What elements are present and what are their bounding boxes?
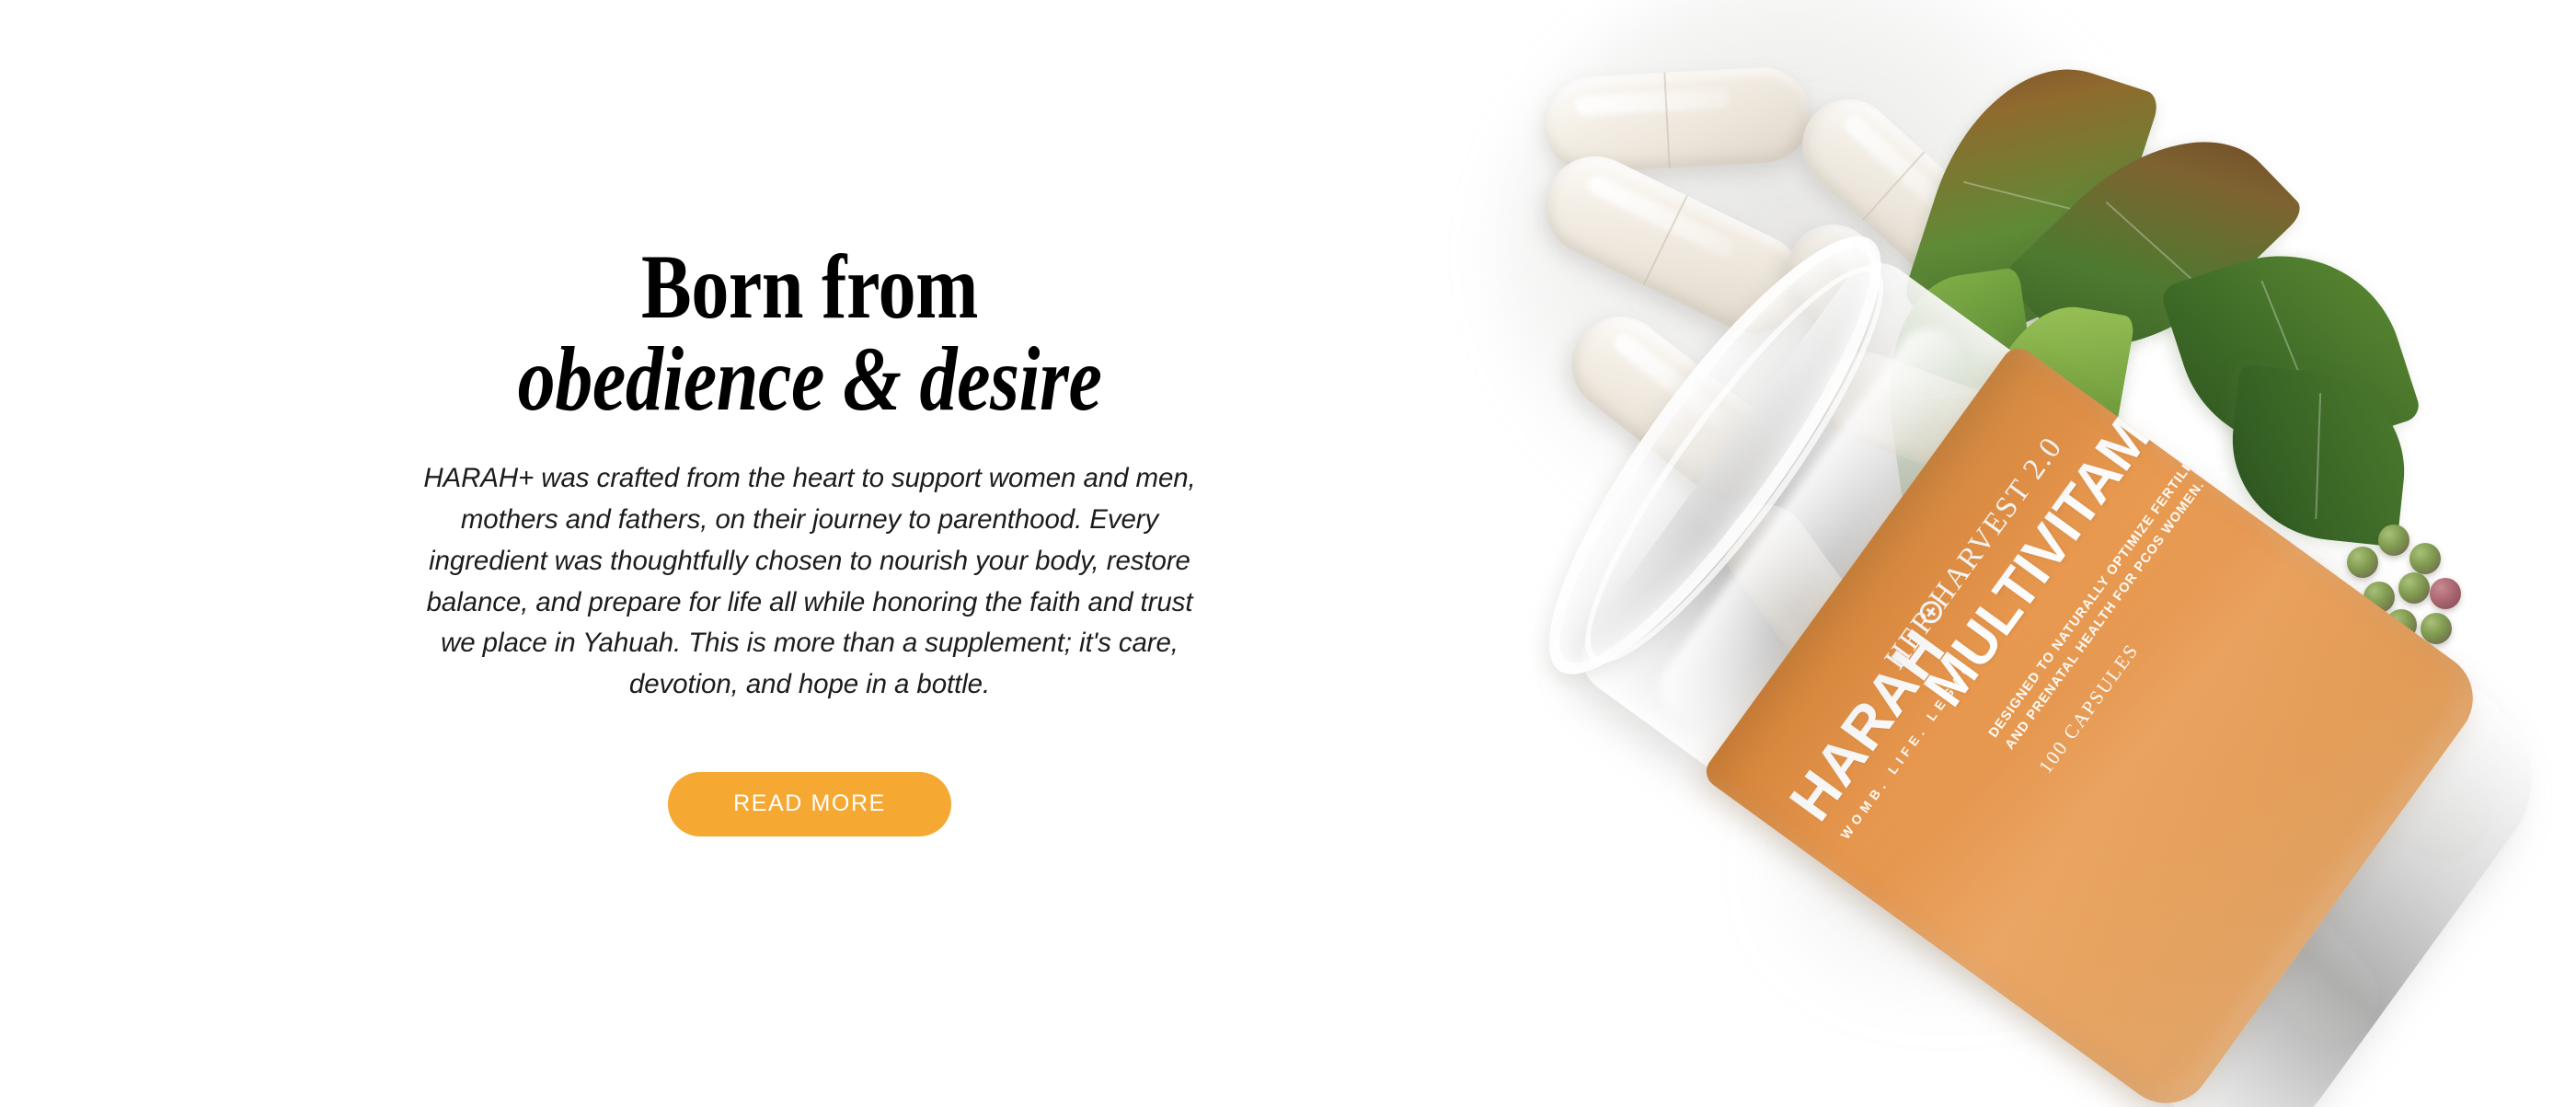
body-paragraph: HARAH+ was crafted from the heart to sup… — [419, 458, 1201, 706]
headline-line-1: Born from — [518, 243, 1102, 331]
leaf-vein — [2106, 202, 2201, 287]
leaf-vein — [2316, 393, 2321, 519]
berry — [2430, 578, 2461, 609]
berry — [2347, 547, 2378, 578]
berry — [2378, 525, 2409, 556]
cta-container: READ MORE — [668, 772, 951, 836]
product-photo: HARAH WOMB. LIFE. LEGACY HER HARVEST 2.0… — [1435, 0, 2576, 1107]
read-more-button[interactable]: READ MORE — [668, 772, 951, 836]
headline-line-2: obedience & desire — [518, 335, 1102, 423]
capsule-highlight — [1574, 88, 1730, 116]
copy-column: Born from obedience & desire HARAH+ was … — [276, 0, 1343, 1107]
berry — [2398, 572, 2430, 604]
page-title: Born from obedience & desire — [454, 243, 1166, 423]
berry — [2409, 543, 2441, 574]
hero-section: Born from obedience & desire HARAH+ was … — [0, 0, 2576, 1107]
